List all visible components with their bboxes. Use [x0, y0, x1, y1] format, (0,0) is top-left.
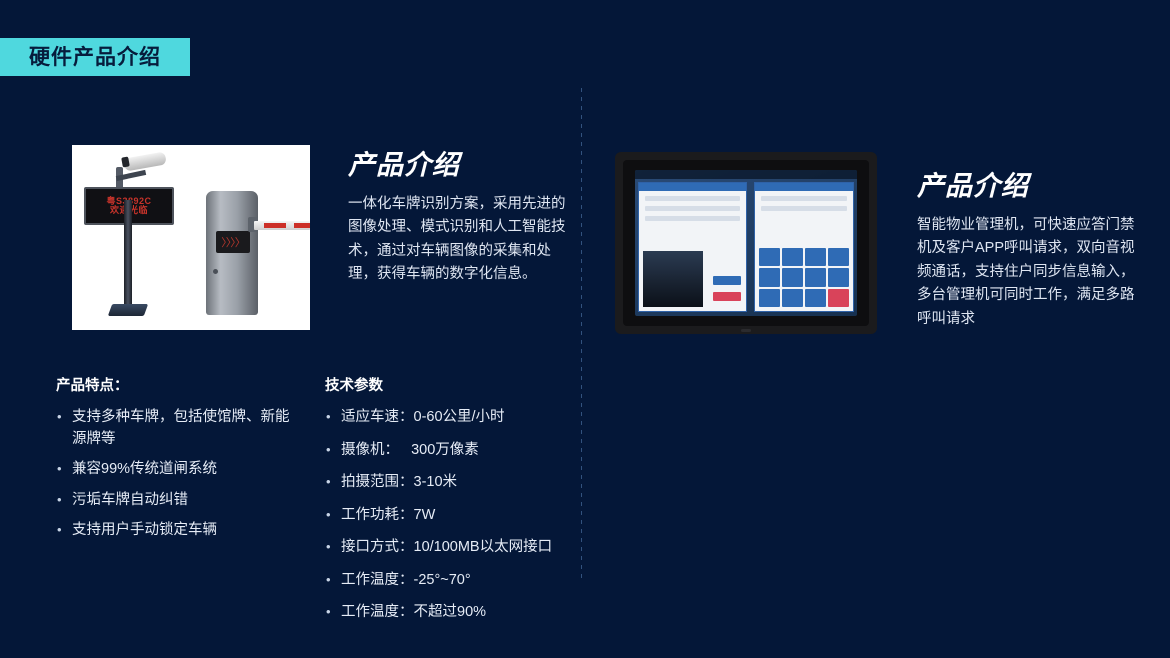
- product-params-parking: 技术参数 适应车速：0-60公里/小时摄像机： 300万像素拍摄范围：3-10米…: [325, 378, 575, 635]
- features-title: 产品特点：: [56, 378, 296, 395]
- keypad-key: [759, 248, 780, 266]
- display-pole-base-shape: [108, 304, 148, 316]
- product-hero-parking: 粤S3892C 欢迎光临 〉〉〉〉 产品介绍 一体化车牌识别方案，采用先进的图像…: [72, 145, 566, 330]
- keypad-key: [759, 289, 780, 307]
- param-value: 不超过90%: [414, 604, 487, 620]
- keypad-key: [782, 248, 803, 266]
- camera-lens-shape: [121, 156, 130, 167]
- list-row: [645, 216, 740, 221]
- keypad-key: [759, 268, 780, 286]
- params-list: 适应车速：0-60公里/小时摄像机： 300万像素拍摄范围：3-10米工作功耗：…: [325, 407, 575, 623]
- keypad-key: [782, 268, 803, 286]
- display-pole-shape: [124, 200, 132, 308]
- tablet-screen: [635, 170, 857, 316]
- param-label: 工作功耗：: [341, 507, 414, 523]
- barrier-lock-knob: [213, 269, 218, 274]
- list-row: [645, 196, 740, 201]
- keypad-key: [782, 289, 803, 307]
- hangup-button-shape: [713, 292, 741, 301]
- product-hero-property-manager: 产品介绍 智能物业管理机，可快速应答门禁机及客户APP呼叫请求，双向音视频通话，…: [615, 152, 1145, 334]
- keypad-key: [805, 268, 826, 286]
- product-intro-heading: 产品介绍: [917, 172, 1145, 202]
- window-titlebar: [639, 183, 746, 191]
- param-row: 接口方式：10/100MB以太网接口: [325, 537, 575, 558]
- keypad-key: [805, 248, 826, 266]
- param-label: 工作温度：: [341, 604, 414, 620]
- tablet-window-keypad: [754, 182, 854, 312]
- keypad-call-key: [828, 289, 849, 307]
- keypad-key: [805, 289, 826, 307]
- video-preview-thumbnail: [643, 251, 703, 307]
- param-row: 拍摄范围：3-10米: [325, 472, 575, 493]
- tablet-bezel: [623, 160, 869, 326]
- product-intro-heading: 产品介绍: [348, 151, 566, 181]
- param-value: 300万像素: [407, 442, 479, 458]
- product-intro-description: 智能物业管理机，可快速应答门禁机及客户APP呼叫请求，双向音视频通话，支持住户同…: [917, 214, 1145, 331]
- list-row: [761, 206, 847, 211]
- param-value: -25°~70°: [414, 572, 471, 588]
- list-row: [645, 206, 740, 211]
- features-list: 支持多种车牌，包括使馆牌、新能源牌等兼容99%传统道闸系统污垢车牌自动纠错支持用…: [56, 407, 296, 541]
- param-label: 拍摄范围：: [341, 474, 414, 490]
- param-label: 工作温度：: [341, 572, 414, 588]
- barrier-arm-stripe: [264, 223, 286, 228]
- product-intro-block-parking: 产品介绍 一体化车牌识别方案，采用先进的图像处理、模式识别和人工智能技术，通过对…: [348, 145, 566, 287]
- tablet-home-indicator: [741, 329, 751, 332]
- param-label: 接口方式：: [341, 539, 414, 555]
- product-panel-property-manager: 产品介绍 智能物业管理机，可快速应答门禁机及客户APP呼叫请求，双向音视频通话，…: [585, 0, 1170, 658]
- keypad-key: [828, 248, 849, 266]
- license-plate-recognition-barrier-photo: 粤S3892C 欢迎光临 〉〉〉〉: [72, 145, 310, 330]
- camera-body-shape: [123, 151, 167, 171]
- param-row: 工作温度：不超过90%: [325, 602, 575, 623]
- param-label: 摄像机：: [341, 442, 407, 458]
- tablet-window-call-list: [638, 182, 747, 312]
- barrier-arm-stripe: [294, 223, 310, 228]
- param-row: 适应车速：0-60公里/小时: [325, 407, 575, 428]
- barrier-gate-cabinet: [206, 191, 258, 315]
- dial-keypad: [759, 248, 849, 307]
- param-value: 7W: [414, 507, 436, 523]
- barrier-arrow-panel: 〉〉〉〉: [216, 231, 250, 253]
- param-value: 3-10米: [414, 474, 458, 490]
- list-item: 支持用户手动锁定车辆: [56, 520, 296, 541]
- list-row: [761, 196, 847, 201]
- product-features-parking: 产品特点： 支持多种车牌，包括使馆牌、新能源牌等兼容99%传统道闸系统污垢车牌自…: [56, 378, 296, 551]
- param-row: 工作功耗：7W: [325, 505, 575, 526]
- list-item: 兼容99%传统道闸系统: [56, 459, 296, 480]
- product-intro-description: 一体化车牌识别方案，采用先进的图像处理、模式识别和人工智能技术，通过对车辆图像的…: [348, 193, 566, 287]
- params-title: 技术参数: [325, 378, 575, 395]
- param-value: 10/100MB以太网接口: [414, 539, 553, 555]
- list-item: 支持多种车牌，包括使馆牌、新能源牌等: [56, 407, 296, 450]
- param-label: 适应车速：: [341, 409, 414, 425]
- param-row: 摄像机： 300万像素: [325, 440, 575, 461]
- product-panel-parking: 粤S3892C 欢迎光临 〉〉〉〉 产品介绍 一体化车牌识别方案，采用先进的图像…: [0, 0, 585, 658]
- keypad-key: [828, 268, 849, 286]
- tablet-statusbar: [635, 170, 857, 179]
- window-titlebar: [755, 183, 853, 191]
- product-intro-block-property-manager: 产品介绍 智能物业管理机，可快速应答门禁机及客户APP呼叫请求，双向音视频通话，…: [917, 152, 1145, 331]
- param-row: 工作温度：-25°~70°: [325, 570, 575, 591]
- list-item: 污垢车牌自动纠错: [56, 490, 296, 511]
- answer-button-shape: [713, 276, 741, 285]
- param-value: 0-60公里/小时: [414, 409, 505, 425]
- smart-property-management-tablet-photo: [615, 152, 877, 334]
